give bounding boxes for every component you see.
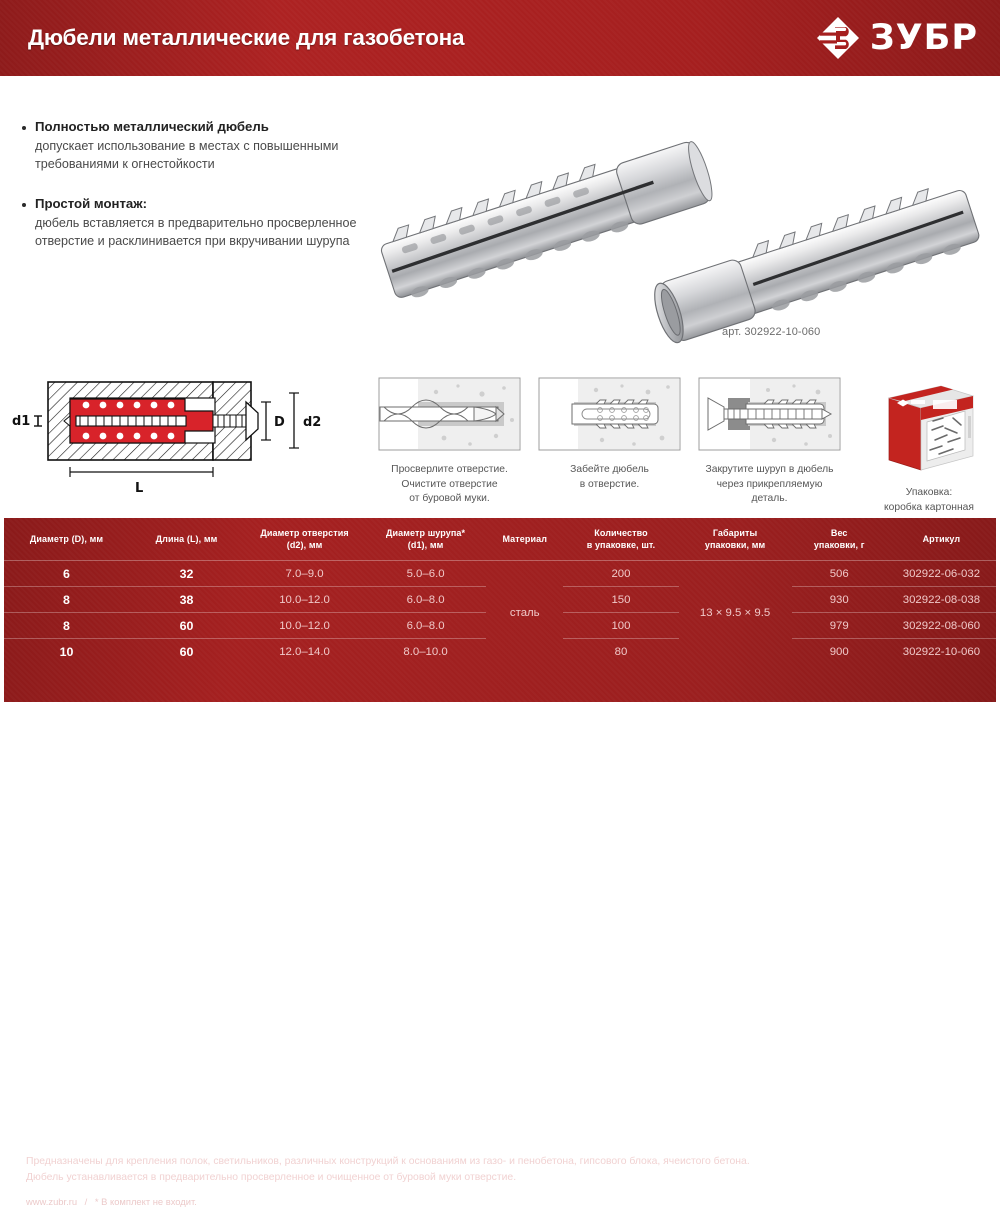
- cell-weight: 930: [792, 587, 887, 613]
- cell-diameter: 8: [4, 587, 129, 613]
- cross-section-diagram: d1 D d2 L: [8, 372, 338, 502]
- col-header-length: Длина (L), мм: [129, 518, 244, 561]
- product-photo: [360, 100, 1000, 350]
- cell-hole-diameter: 7.0–9.0: [244, 561, 365, 587]
- cell-diameter: 8: [4, 613, 129, 639]
- step-3-caption: Закрутите шуруп в дюбельчерез прикрепляе…: [698, 463, 841, 507]
- col-header-screw-diameter: Диаметр шурупа*(d1), мм: [365, 518, 486, 561]
- cell-sku: 302922-08-038: [887, 587, 996, 613]
- feature-heading: Простой монтаж:: [35, 195, 372, 213]
- feature-item: Простой монтаж: дюбель вставляется в пре…: [22, 195, 372, 250]
- table-row: 6 32 7.0–9.0 5.0–6.0 сталь 200 13 × 9.5 …: [4, 561, 996, 587]
- dimension-label-d1: d1: [12, 414, 30, 429]
- dimension-label-d2: d2: [303, 415, 321, 430]
- col-header-weight: Весупаковки, г: [792, 518, 887, 561]
- step-3-illustration: [698, 374, 841, 454]
- dimension-label-D: D: [274, 415, 285, 430]
- cell-material: сталь: [486, 561, 563, 665]
- package-block: Упаковка:коробка картонная: [862, 370, 996, 515]
- article-caption: арт. 302922-10-060: [722, 326, 820, 338]
- feature-list: Полностью металлический дюбель допускает…: [22, 118, 372, 273]
- spec-table-block: Диаметр (D), мм Длина (L), мм Диаметр от…: [4, 518, 996, 702]
- cell-length: 60: [129, 613, 244, 639]
- col-header-sku: Артикул: [887, 518, 996, 561]
- feature-text: допускает использование в местах с повыш…: [35, 137, 372, 174]
- feature-text: дюбель вставляется в предварительно прос…: [35, 214, 372, 251]
- website-link[interactable]: www.zubr.ru: [26, 1196, 77, 1207]
- col-header-quantity: Количествов упаковке, шт.: [563, 518, 678, 561]
- feature-item: Полностью металлический дюбель допускает…: [22, 118, 372, 173]
- note-line-1: Предназначены для крепления полок, свети…: [26, 1154, 976, 1170]
- cell-length: 38: [129, 587, 244, 613]
- anchor-body-1: [376, 132, 717, 304]
- zubr-diamond-icon: [815, 15, 861, 61]
- step-2: Забейте дюбельв отверстие.: [538, 374, 681, 507]
- cell-quantity: 200: [563, 561, 678, 587]
- cell-screw-diameter: 5.0–6.0: [365, 561, 486, 587]
- cell-screw-diameter: 6.0–8.0: [365, 587, 486, 613]
- cell-sku: 302922-10-060: [887, 639, 996, 665]
- page-title: Дюбели металлические для газобетона: [28, 25, 464, 51]
- separator: /: [85, 1196, 88, 1207]
- cell-hole-diameter: 10.0–12.0: [244, 613, 365, 639]
- dimension-label-L: L: [135, 481, 143, 496]
- installation-steps: Просверлите отверстие.Очистите отверстие…: [378, 374, 840, 507]
- brand-name: ЗУБР: [870, 21, 978, 56]
- cell-length: 60: [129, 639, 244, 665]
- cell-length: 32: [129, 561, 244, 587]
- step-2-illustration: [538, 374, 681, 454]
- step-1: Просверлите отверстие.Очистите отверстие…: [378, 374, 521, 507]
- cell-weight: 506: [792, 561, 887, 587]
- col-header-package-dims: Габаритыупаковки, мм: [679, 518, 792, 561]
- cell-sku: 302922-06-032: [887, 561, 996, 587]
- cell-quantity: 150: [563, 587, 678, 613]
- bullet-dot-icon: [22, 203, 26, 207]
- step-2-caption: Забейте дюбельв отверстие.: [538, 463, 681, 492]
- bullet-dot-icon: [22, 126, 26, 130]
- cell-weight: 979: [792, 613, 887, 639]
- cell-package-dims: 13 × 9.5 × 9.5: [679, 561, 792, 665]
- cell-screw-diameter: 8.0–10.0: [365, 639, 486, 665]
- cell-quantity: 80: [563, 639, 678, 665]
- package-caption: Упаковка:коробка картонная: [862, 486, 996, 515]
- note-line-2: Дюбель устанавливается в предварительно …: [26, 1170, 976, 1186]
- cell-hole-diameter: 12.0–14.0: [244, 639, 365, 665]
- cell-weight: 900: [792, 639, 887, 665]
- notes-block: Предназначены для крепления полок, свети…: [26, 1154, 976, 1207]
- product-datasheet: Дюбели металлические для газобетона ЗУБР…: [0, 0, 1000, 706]
- col-header-diameter: Диаметр (D), мм: [4, 518, 129, 561]
- step-1-illustration: [378, 374, 521, 454]
- col-header-material: Материал: [486, 518, 563, 561]
- cell-hole-diameter: 10.0–12.0: [244, 587, 365, 613]
- footnote-text: * В комплект не входит.: [95, 1196, 197, 1207]
- cell-quantity: 100: [563, 613, 678, 639]
- header-banner: Дюбели металлические для газобетона ЗУБР: [0, 0, 1000, 76]
- spec-table: Диаметр (D), мм Длина (L), мм Диаметр от…: [4, 518, 996, 664]
- step-3: Закрутите шуруп в дюбельчерез прикрепляе…: [698, 374, 841, 507]
- feature-heading: Полностью металлический дюбель: [35, 118, 372, 136]
- cell-diameter: 10: [4, 639, 129, 665]
- footer-line: www.zubr.ru / * В комплект не входит.: [26, 1196, 976, 1207]
- cell-diameter: 6: [4, 561, 129, 587]
- step-1-caption: Просверлите отверстие.Очистите отверстие…: [378, 463, 521, 507]
- cell-screw-diameter: 6.0–8.0: [365, 613, 486, 639]
- col-header-hole-diameter: Диаметр отверстия(d2), мм: [244, 518, 365, 561]
- cell-sku: 302922-08-060: [887, 613, 996, 639]
- package-box-image: [873, 370, 985, 480]
- table-header-row: Диаметр (D), мм Длина (L), мм Диаметр от…: [4, 518, 996, 561]
- brand-logo: ЗУБР: [815, 15, 978, 61]
